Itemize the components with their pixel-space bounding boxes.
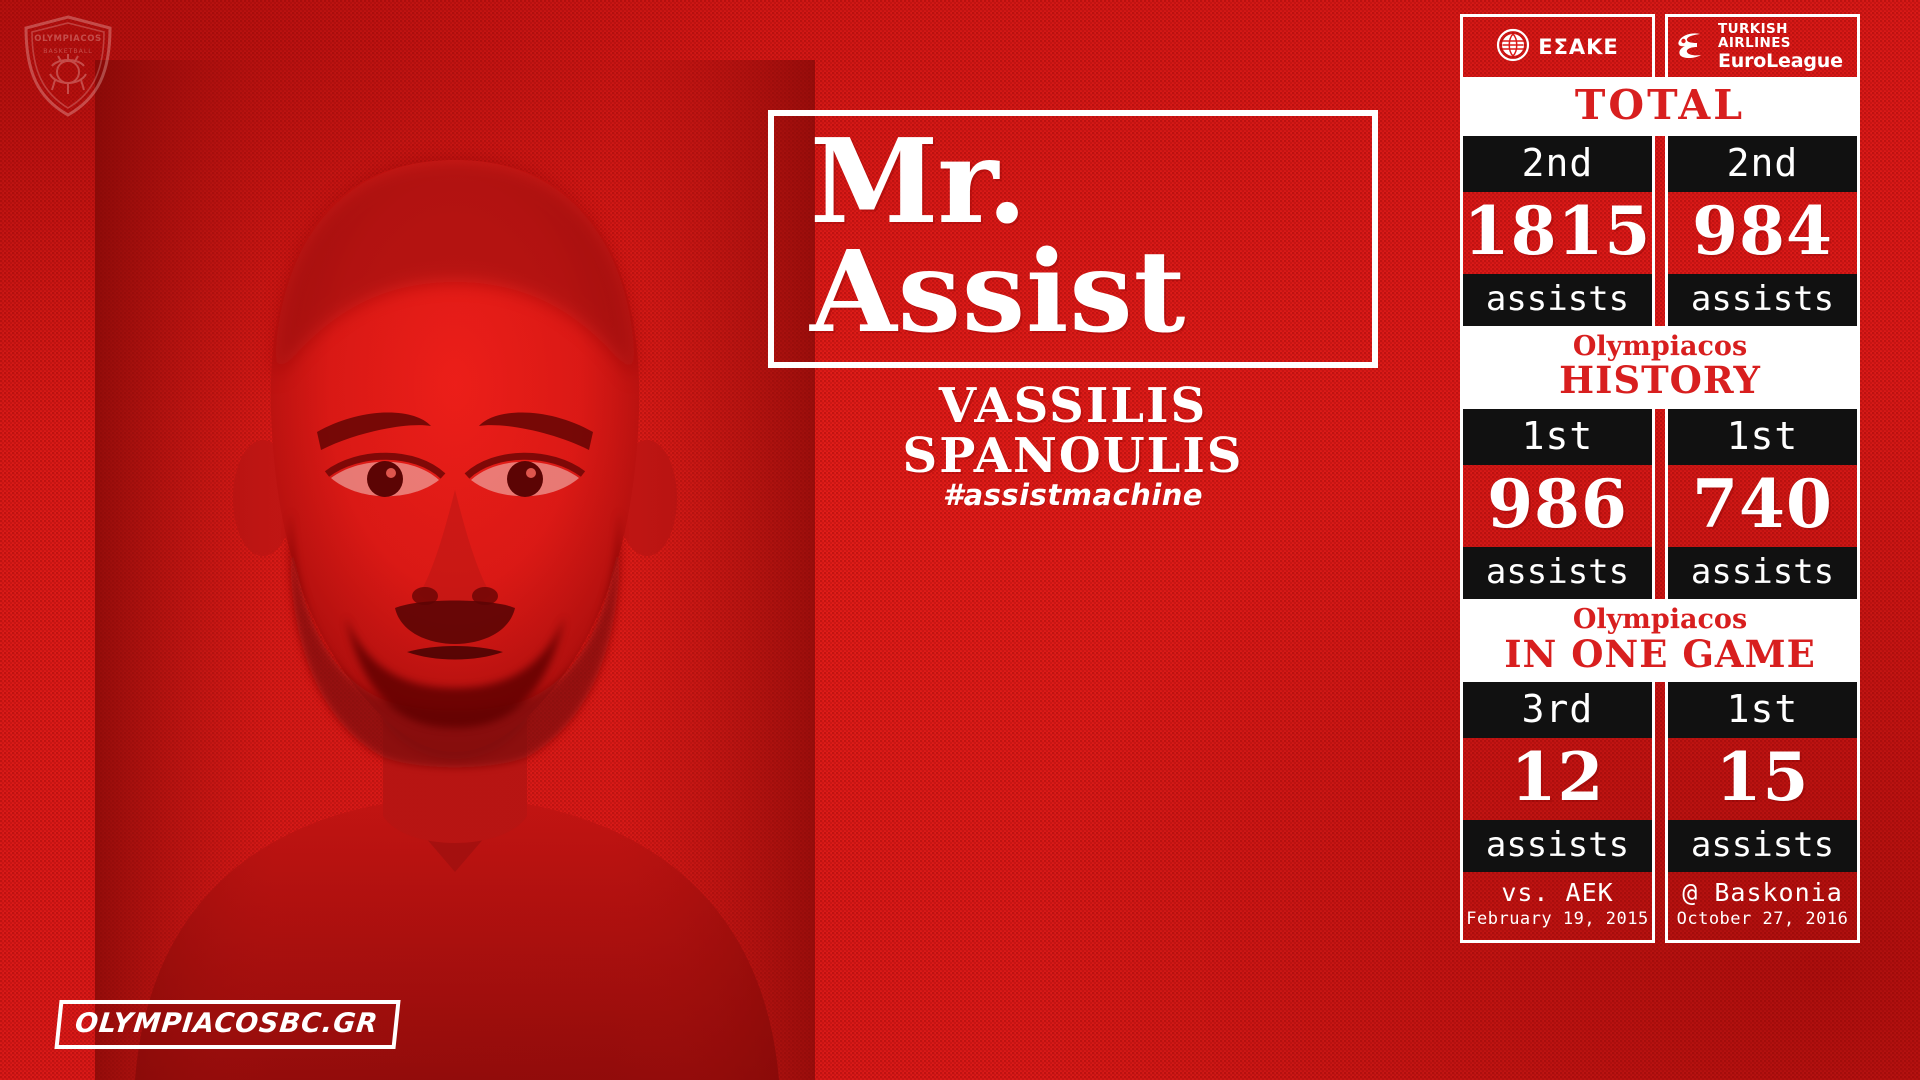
stat-cell-history-euroleague: 1st	[1665, 409, 1860, 465]
euroleague-sponsor-label: TURKISH AIRLINES	[1718, 23, 1851, 50]
value-row-one-game: 12 15	[1460, 738, 1860, 820]
euroleague-logo-icon	[1674, 30, 1710, 64]
headline-line-2: Assist	[810, 239, 1186, 348]
infographic-canvas: OLYMPIACOS BASKETBALL Mr. Assist VASSILI…	[0, 0, 1920, 1080]
unit-cell-one-game-esake: assists	[1460, 820, 1655, 872]
opponent-esake: vs. AEK	[1463, 879, 1652, 908]
unit-total-esake: assists	[1463, 274, 1652, 326]
unit-total-euroleague: assists	[1668, 274, 1857, 326]
section-title-one-game-sub: Olympiacos	[1460, 606, 1860, 634]
value-row-history: 986 740	[1460, 465, 1860, 547]
rank-one-game-esake: 3rd	[1463, 682, 1652, 738]
stats-panel: ΕΣΑΚΕ TURKISH AIRLINES EuroLeague	[1440, 0, 1920, 1080]
section-title-one-game-main: IN ONE GAME	[1460, 635, 1860, 674]
player-last-name: SPANOULIS	[768, 432, 1378, 482]
euroleague-label: EuroLeague	[1718, 52, 1851, 71]
player-first-name: VASSILIS	[768, 382, 1378, 432]
section-title-one-game: Olympiacos IN ONE GAME	[1460, 599, 1860, 682]
player-name: VASSILIS SPANOULIS	[768, 382, 1378, 482]
website-badge[interactable]: OLYMPIACOSBC.GR	[54, 1000, 400, 1049]
stat-cell-history-esake: 1st	[1460, 409, 1655, 465]
game-info-cell-esake: vs. AEK February 19, 2015	[1460, 872, 1655, 942]
league-header-row: ΕΣΑΚΕ TURKISH AIRLINES EuroLeague	[1460, 14, 1860, 77]
section-title-history-sub: Olympiacos	[1460, 333, 1860, 361]
league-header-euroleague: TURKISH AIRLINES EuroLeague	[1665, 14, 1860, 77]
unit-cell-one-game-euroleague: assists	[1665, 820, 1860, 872]
unit-cell-history-euroleague: assists	[1665, 547, 1860, 599]
value-history-euroleague: 740	[1668, 465, 1857, 547]
unit-cell-history-esake: assists	[1460, 547, 1655, 599]
hashtag: #assistmachine	[768, 478, 1378, 512]
unit-history-euroleague: assists	[1668, 547, 1857, 599]
olympiacos-crest-icon: OLYMPIACOS BASKETBALL	[22, 14, 114, 118]
value-row-total: 1815 984	[1460, 192, 1860, 274]
unit-one-game-esake: assists	[1463, 820, 1652, 872]
value-cell-one-game-euroleague: 15	[1665, 738, 1860, 820]
rank-row-one-game: 3rd 1st	[1460, 682, 1860, 738]
value-cell-total-euroleague: 984	[1665, 192, 1860, 274]
rank-row-total: 2nd 2nd	[1460, 136, 1860, 192]
svg-text:OLYMPIACOS: OLYMPIACOS	[34, 34, 102, 44]
section-title-total-main: TOTAL	[1460, 84, 1860, 127]
value-total-esake: 1815	[1463, 192, 1652, 274]
stat-cell-total-euroleague: 2nd	[1665, 136, 1860, 192]
rank-history-esake: 1st	[1463, 409, 1652, 465]
rank-total-esake: 2nd	[1463, 136, 1652, 192]
value-cell-history-euroleague: 740	[1665, 465, 1860, 547]
date-esake: February 19, 2015	[1463, 909, 1652, 929]
headline-box: Mr. Assist	[768, 110, 1378, 368]
stat-cell-one-game-euroleague: 1st	[1665, 682, 1860, 738]
value-one-game-euroleague: 15	[1668, 738, 1857, 820]
value-one-game-esake: 12	[1463, 738, 1652, 820]
value-cell-history-esake: 986	[1460, 465, 1655, 547]
unit-history-esake: assists	[1463, 547, 1652, 599]
value-cell-one-game-esake: 12	[1460, 738, 1655, 820]
player-portrait	[95, 60, 815, 1080]
unit-cell-total-euroleague: assists	[1665, 274, 1860, 326]
unit-row-total: assists assists	[1460, 274, 1860, 326]
unit-one-game-euroleague: assists	[1668, 820, 1857, 872]
game-info-cell-euroleague: @ Baskonia October 27, 2016	[1665, 872, 1860, 942]
rank-total-euroleague: 2nd	[1668, 136, 1857, 192]
headline-line-1: Mr.	[810, 126, 1026, 239]
unit-cell-total-esake: assists	[1460, 274, 1655, 326]
unit-row-one-game: assists assists	[1460, 820, 1860, 872]
value-cell-total-esake: 1815	[1460, 192, 1655, 274]
rank-one-game-euroleague: 1st	[1668, 682, 1857, 738]
rank-row-history: 1st 1st	[1460, 409, 1860, 465]
game-info-row: vs. AEK February 19, 2015 @ Baskonia Oct…	[1460, 872, 1860, 942]
opponent-euroleague: @ Baskonia	[1668, 879, 1857, 908]
section-title-history: Olympiacos HISTORY	[1460, 326, 1860, 409]
value-history-esake: 986	[1463, 465, 1652, 547]
rank-history-euroleague: 1st	[1668, 409, 1857, 465]
website-badge-label: OLYMPIACOSBC.GR	[73, 1008, 379, 1039]
league-header-esake: ΕΣΑΚΕ	[1460, 14, 1655, 77]
section-title-history-main: HISTORY	[1460, 361, 1860, 400]
stat-cell-total-esake: 2nd	[1460, 136, 1655, 192]
stat-cell-one-game-esake: 3rd	[1460, 682, 1655, 738]
unit-row-history: assists assists	[1460, 547, 1860, 599]
date-euroleague: October 27, 2016	[1668, 909, 1857, 929]
esake-label: ΕΣΑΚΕ	[1538, 35, 1619, 59]
section-title-total: TOTAL	[1460, 77, 1860, 136]
svg-text:BASKETBALL: BASKETBALL	[43, 48, 93, 55]
esake-basketball-logo-icon	[1496, 28, 1530, 66]
value-total-euroleague: 984	[1668, 192, 1857, 274]
